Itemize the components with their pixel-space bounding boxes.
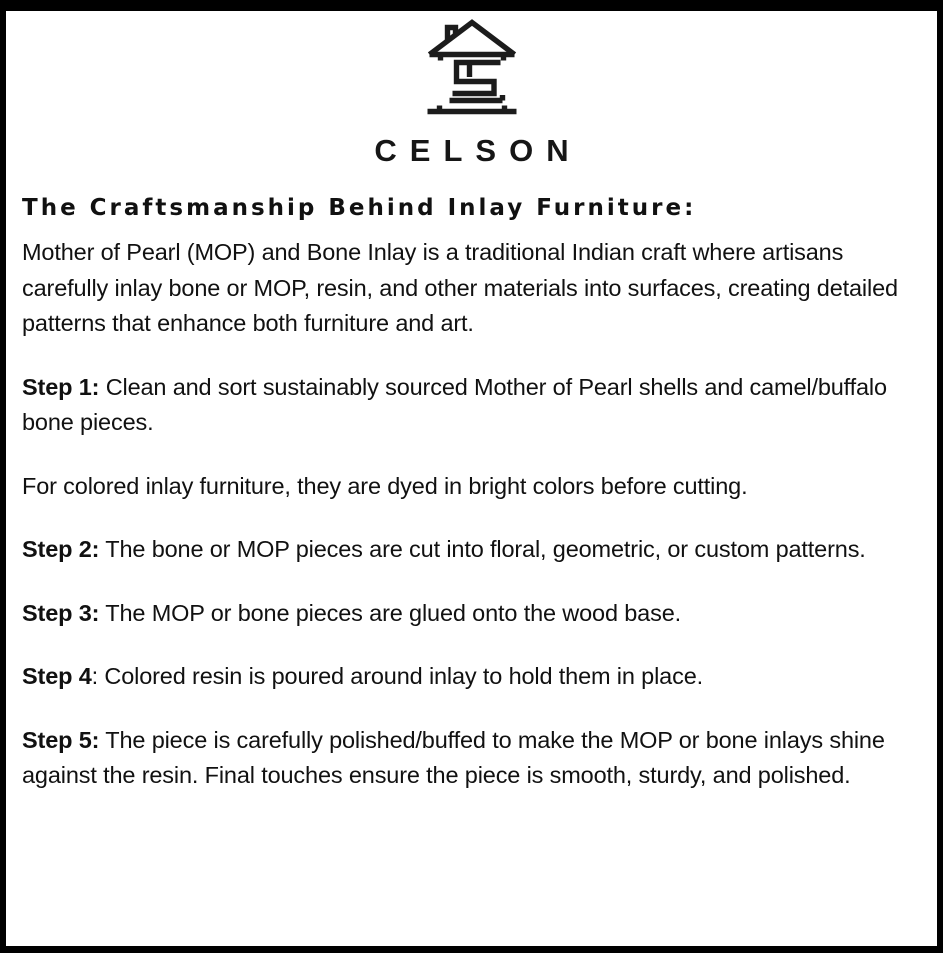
paragraph-step-4: Step 4: Colored resin is poured around i…	[22, 659, 927, 695]
paragraph-text: For colored inlay furniture, they are dy…	[22, 473, 747, 499]
paragraph-dye-note: For colored inlay furniture, they are dy…	[22, 469, 927, 505]
paragraph-text: The MOP or bone pieces are glued onto th…	[99, 600, 681, 626]
paragraph-text: The piece is carefully polished/buffed t…	[22, 727, 885, 789]
paragraph-text: The bone or MOP pieces are cut into flor…	[99, 536, 865, 562]
paragraph-text: Colored resin is poured around inlay to …	[98, 663, 703, 689]
poster-content: CELSON The Craftsmanship Behind Inlay Fu…	[6, 11, 937, 946]
paragraph-intro: Mother of Pearl (MOP) and Bone Inlay is …	[22, 235, 927, 342]
body-copy: Mother of Pearl (MOP) and Bone Inlay is …	[22, 221, 927, 794]
paragraph-text: Clean and sort sustainably sourced Mothe…	[22, 374, 887, 436]
poster-frame: CELSON The Craftsmanship Behind Inlay Fu…	[0, 0, 943, 953]
house-logo-icon	[425, 15, 519, 119]
brand-wordmark: CELSON	[16, 135, 927, 166]
paragraph-step-1: Step 1: Clean and sort sustainably sourc…	[22, 370, 927, 441]
paragraph-text: Mother of Pearl (MOP) and Bone Inlay is …	[22, 239, 898, 336]
paragraph-step-2: Step 2: The bone or MOP pieces are cut i…	[22, 532, 927, 568]
step-label: Step 3:	[22, 600, 99, 626]
step-label: Step 5:	[22, 727, 99, 753]
paragraph-step-3: Step 3: The MOP or bone pieces are glued…	[22, 596, 927, 632]
brand-header: CELSON	[16, 11, 927, 166]
page-title: The Craftsmanship Behind Inlay Furniture…	[22, 196, 927, 221]
paragraph-step-5: Step 5: The piece is carefully polished/…	[22, 723, 927, 794]
step-label: Step 4	[22, 663, 92, 689]
step-label: Step 1:	[22, 374, 99, 400]
step-label: Step 2:	[22, 536, 99, 562]
